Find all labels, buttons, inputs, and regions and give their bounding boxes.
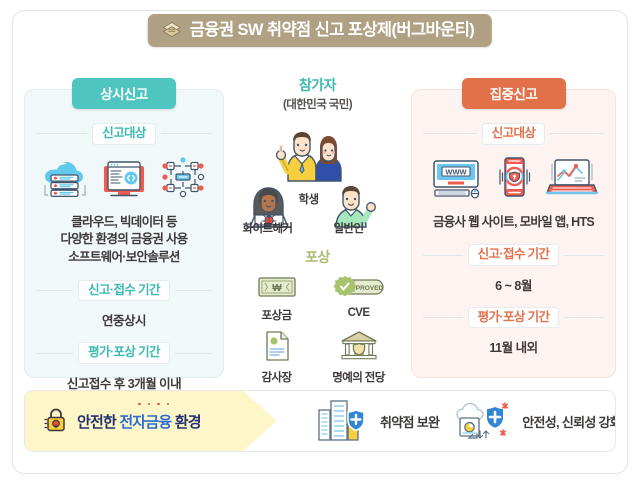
right-award-value: 11월 내외 (421, 337, 606, 356)
rule (36, 133, 87, 134)
right-section-label-period: 신고·접수 기간 (468, 244, 560, 266)
left-badge: 상시신고 (72, 78, 176, 109)
rule (36, 353, 73, 354)
rule (161, 133, 212, 134)
cloud-server-icon (40, 154, 90, 205)
desktop-www-icon: WWW (428, 154, 484, 205)
bottom-banner: 안전한 전자금융 환경 취약점 보완 (24, 390, 616, 452)
right-section-head-target: 신고대상 (423, 123, 604, 145)
banner-prefix: 안전한 (77, 414, 119, 431)
right-period-value: 6 ~ 8월 (421, 275, 606, 294)
reward-title: 포상 (238, 247, 398, 267)
building-shield-icon (315, 396, 373, 447)
diamond-emblem-icon (162, 20, 182, 40)
rule (550, 133, 604, 134)
right-panel-body: 신고대상 WWW (411, 109, 616, 356)
middle-column: 참가자 (대한민국 국민) (238, 78, 398, 378)
banner-highlight: 전자금융 (119, 414, 171, 431)
banner-caption-trust: 안전성, 신뢰성 강화 (522, 412, 616, 431)
rule (423, 255, 463, 256)
infographic-page: 금융권 SW 취약점 신고 포상제(버그바운티) 상시신고 신고대상 (0, 0, 640, 485)
left-section-label-award: 평가·포상 기간 (78, 342, 170, 364)
left-period-value: 연중상시 (34, 310, 214, 329)
right-section-label-target: 신고대상 (482, 123, 546, 145)
right-section-head-period: 신고·접수 기간 (423, 244, 604, 266)
approved-badge-icon: APPROVED (332, 287, 386, 304)
participant-tag-student: 학생 (299, 191, 319, 207)
left-panel-body: 신고대상 (24, 109, 224, 392)
rule (175, 353, 212, 354)
participants-subtitle: (대한민국 국민) (238, 96, 398, 112)
hall-of-fame-icon (338, 349, 380, 366)
left-award-value: 신고접수 후 3개월 이내 (34, 373, 214, 392)
reward-caption-prize: 포상금 (256, 307, 298, 323)
rule (36, 290, 73, 291)
left-section-label-period: 신고·접수 기간 (78, 280, 170, 302)
right-section-label-award: 평가·포상 기간 (468, 307, 560, 329)
decorative-dots (138, 403, 169, 406)
network-diagram-icon (158, 154, 208, 205)
banner-arrow: 안전한 전자금융 환경 (25, 391, 277, 451)
right-section-head-award: 평가·포상 기간 (423, 307, 604, 329)
banner-caption-patch: 취약점 보완 (380, 412, 439, 431)
left-section-head-period: 신고·접수 기간 (36, 280, 212, 302)
participants-illustration: 학생 화이트해커 일반인 (238, 117, 398, 235)
banknote-won-icon: ₩ (256, 287, 298, 304)
participants-title: 참가자 (238, 78, 398, 93)
right-column: 집중신고 신고대상 WWW (411, 78, 616, 378)
reward-item-cve: APPROVED CVE (332, 274, 386, 323)
rule (423, 317, 463, 318)
reward-caption-certificate: 감사장 (260, 369, 294, 385)
banner-item-patch: 취약점 보완 (315, 396, 439, 447)
certificate-icon (260, 349, 294, 366)
banner-suffix: 환경 (171, 414, 200, 431)
left-description: 클라우드, 빅데이터 등다양한 환경의 금융권 사용소프트웨어·보안솔루션 (34, 214, 214, 267)
page-title: 금융권 SW 취약점 신고 포상제(버그바운티) (190, 22, 474, 39)
reward-item-hall-of-fame: 명예의 전당 (332, 330, 385, 385)
left-section-label-target: 신고대상 (92, 123, 156, 145)
rule (564, 255, 604, 256)
left-icon-row (34, 154, 214, 205)
monitor-code-icon (99, 154, 149, 205)
participant-tag-normal: 일반인 (334, 220, 364, 236)
reward-item-certificate: 감사장 (260, 330, 294, 385)
svg-text:WWW: WWW (445, 167, 467, 176)
right-icon-row: WWW (421, 154, 606, 205)
right-badge: 집중신고 (462, 78, 566, 109)
reward-item-prize: ₩ 포상금 (256, 274, 298, 323)
participant-tag-hacker: 화이트해커 (243, 220, 293, 236)
left-section-head-target: 신고대상 (36, 123, 212, 145)
rule (423, 133, 477, 134)
left-column: 상시신고 신고대상 (24, 78, 224, 378)
svg-text:₩: ₩ (272, 283, 282, 294)
banner-item-trust: 안전성, 신뢰성 강화 (453, 396, 616, 447)
left-section-head-award: 평가·포상 기간 (36, 342, 212, 364)
columns-area: 상시신고 신고대상 (24, 78, 616, 378)
rule (564, 317, 604, 318)
reward-caption-cve: CVE (332, 307, 386, 319)
cloud-document-shield-icon (453, 396, 515, 447)
banner-arrow-text: 안전한 전자금융 환경 (77, 411, 201, 432)
lock-icon (43, 404, 69, 439)
banner-items: 취약점 보완 (315, 391, 616, 451)
right-description: 금융사 웹 사이트, 모바일 앱, HTS (421, 214, 606, 232)
page-title-bar: 금융권 SW 취약점 신고 포상제(버그바운티) (148, 14, 492, 47)
rule (175, 290, 212, 291)
laptop-chart-icon (544, 154, 600, 205)
reward-caption-hall-of-fame: 명예의 전당 (332, 369, 385, 385)
reward-grid: ₩ 포상금 APPROVED C (238, 274, 398, 385)
mobile-security-icon (493, 154, 535, 205)
